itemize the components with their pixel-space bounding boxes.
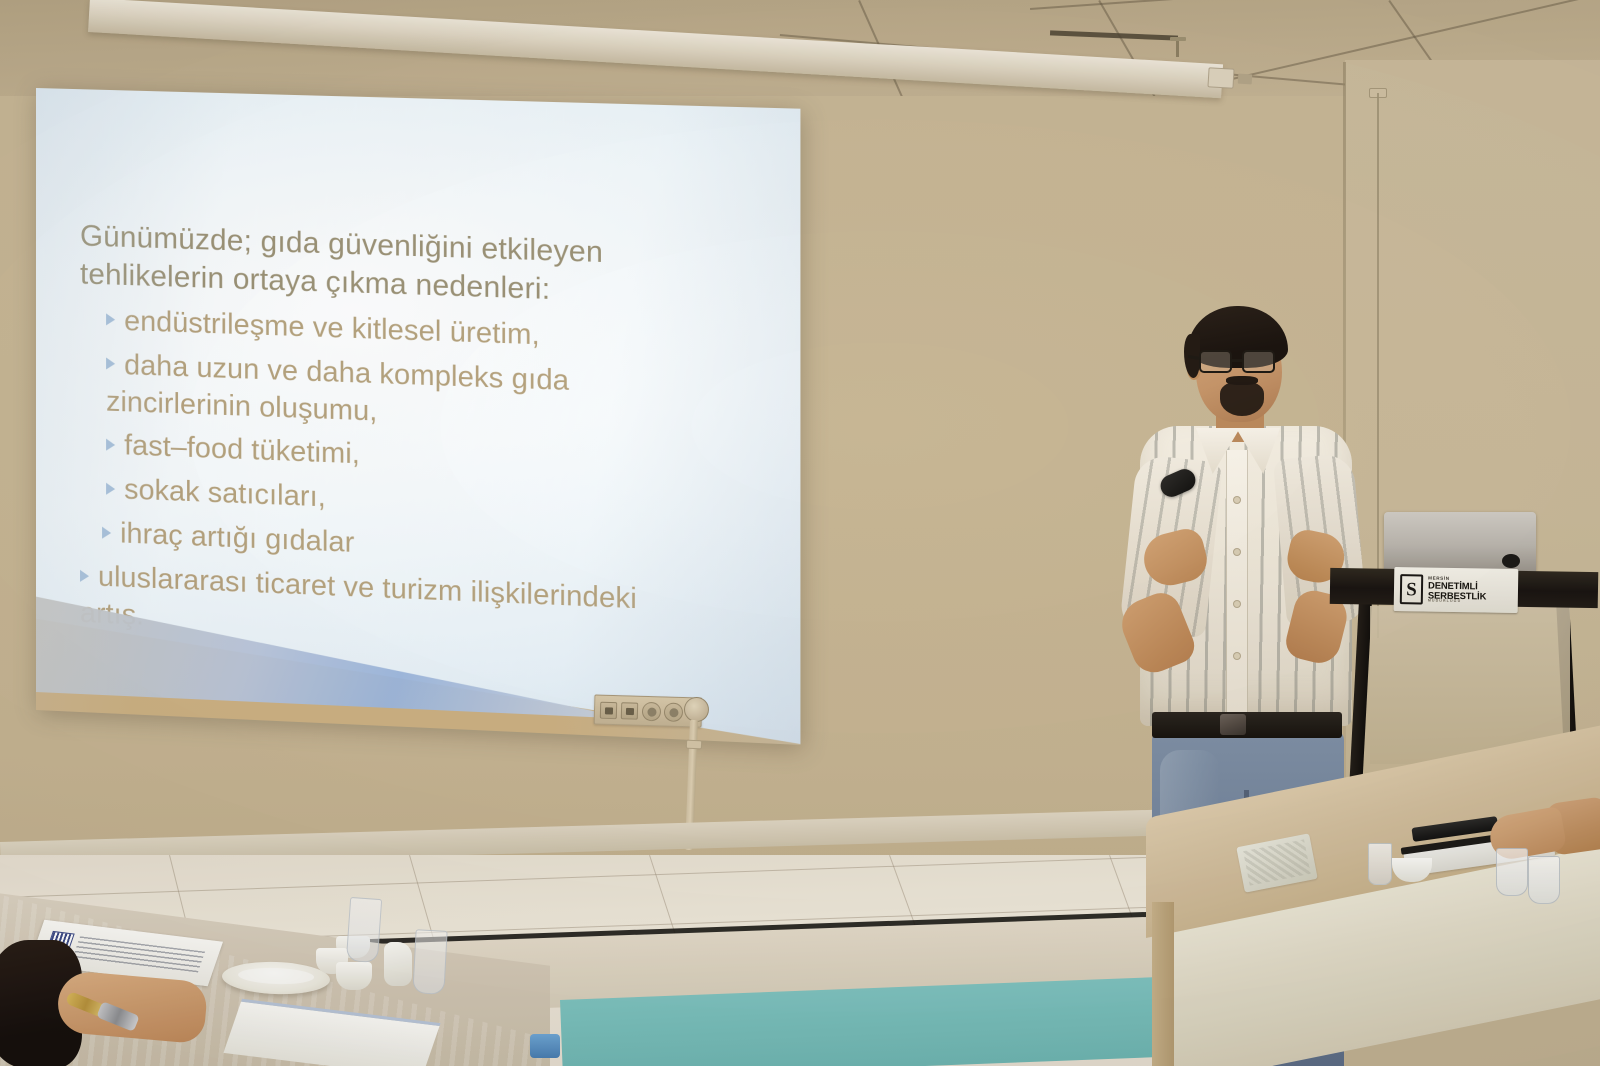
shirt-button [1233, 600, 1241, 608]
presentation-room-photo: Günümüzde; gıda güvenliğini etkileyen te… [0, 0, 1600, 1066]
screen-housing-tab [1238, 74, 1253, 85]
data-socket-icon [600, 702, 617, 719]
sign-logo-icon: S [1400, 574, 1423, 604]
plastic-cup-stack [1368, 843, 1392, 885]
plastic-cup-stack [412, 929, 447, 995]
eyeglasses-icon [1196, 350, 1284, 374]
projection-screen: Günümüzde; gıda güvenliğini etkileyen te… [36, 88, 800, 745]
shirt-button [1233, 652, 1241, 660]
shirt-button [1233, 496, 1241, 504]
plastic-cup-stack [346, 897, 382, 963]
shirt-button [1233, 548, 1241, 556]
creamer-jug [384, 942, 412, 986]
bottle-cap [530, 1034, 560, 1058]
presenter-belt [1152, 712, 1342, 738]
document-text-lines [73, 936, 205, 973]
laptop-logo-icon [1502, 554, 1520, 568]
shirt-placket [1226, 450, 1248, 720]
power-socket-icon [664, 702, 684, 722]
laptop-lid[interactable] [1384, 512, 1536, 572]
belt-buckle [1220, 714, 1246, 735]
plastic-glass [1496, 848, 1528, 896]
data-socket-icon [621, 702, 638, 719]
power-socket-icon [642, 702, 662, 722]
tea-cup [336, 962, 372, 990]
ceiling-hook [1176, 40, 1179, 57]
screen-housing-cap [1207, 67, 1234, 88]
presenter-goatee [1220, 382, 1264, 416]
screen-vignette [36, 88, 800, 745]
conduit-clip [686, 740, 702, 750]
sign-text: MERSİN DENETİMLİ SERBESTLİK MÜDÜRLÜĞÜ [1428, 576, 1487, 604]
institution-sign: S MERSİN DENETİMLİ SERBESTLİK MÜDÜRLÜĞÜ [1394, 567, 1519, 613]
plastic-glass [1528, 856, 1560, 904]
